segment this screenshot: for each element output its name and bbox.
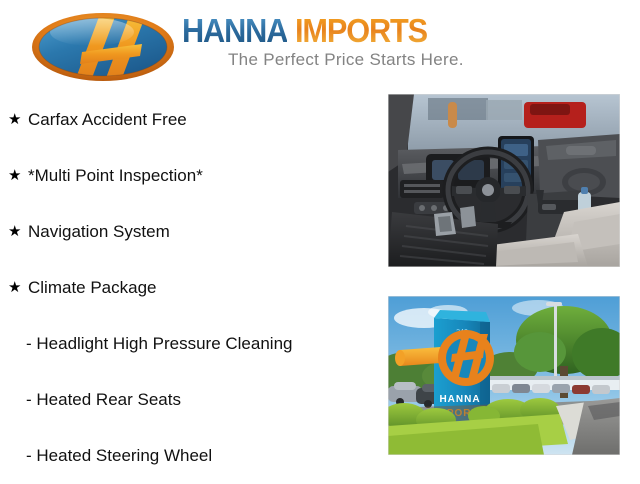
feature-label: - Heated Steering Wheel [26, 428, 212, 484]
brand-name-imports: IMPORTS [295, 14, 427, 48]
feature-label: *Multi Point Inspection* [28, 148, 203, 204]
brand-name-hanna: HANNA [182, 14, 287, 48]
feature-subitem: - Heated Rear Seats [0, 372, 380, 428]
feature-label: Navigation System [28, 204, 170, 260]
star-icon: ★ [8, 92, 21, 148]
brand-logo[interactable]: HANNAIMPORTS The Perfect Price Starts He… [30, 6, 530, 86]
star-icon: ★ [8, 148, 21, 204]
feature-item: ★ *Multi Point Inspection* [0, 148, 380, 204]
brand-name-line: HANNAIMPORTS [182, 14, 437, 48]
dealership-sign-photo[interactable]: 240 HANNA IMPORTS [388, 296, 620, 455]
feature-item: ★ Navigation System [0, 204, 380, 260]
feature-label: - Headlight High Pressure Cleaning [26, 316, 292, 372]
brand-tagline: The Perfect Price Starts Here. [228, 50, 464, 70]
vehicle-interior-photo[interactable] [388, 94, 620, 267]
star-icon: ★ [8, 204, 21, 260]
feature-subitem: - Heated Steering Wheel [0, 428, 380, 484]
header-banner: HANNAIMPORTS The Perfect Price Starts He… [0, 0, 640, 90]
feature-label: Climate Package [28, 260, 157, 316]
feature-subitem: - Headlight High Pressure Cleaning [0, 316, 380, 372]
svg-text:HANNA: HANNA [439, 394, 480, 405]
star-icon: ★ [8, 260, 21, 316]
hanna-oval-h-icon [30, 12, 176, 82]
feature-label: - Heated Rear Seats [26, 372, 181, 428]
feature-item: ★ Climate Package [0, 260, 380, 316]
feature-label: Carfax Accident Free [28, 92, 187, 148]
feature-item: ★ Carfax Accident Free [0, 92, 380, 148]
brand-wordmark: HANNAIMPORTS The Perfect Price Starts He… [182, 14, 532, 80]
vehicle-feature-list: ★ Carfax Accident Free ★ *Multi Point In… [0, 92, 380, 484]
